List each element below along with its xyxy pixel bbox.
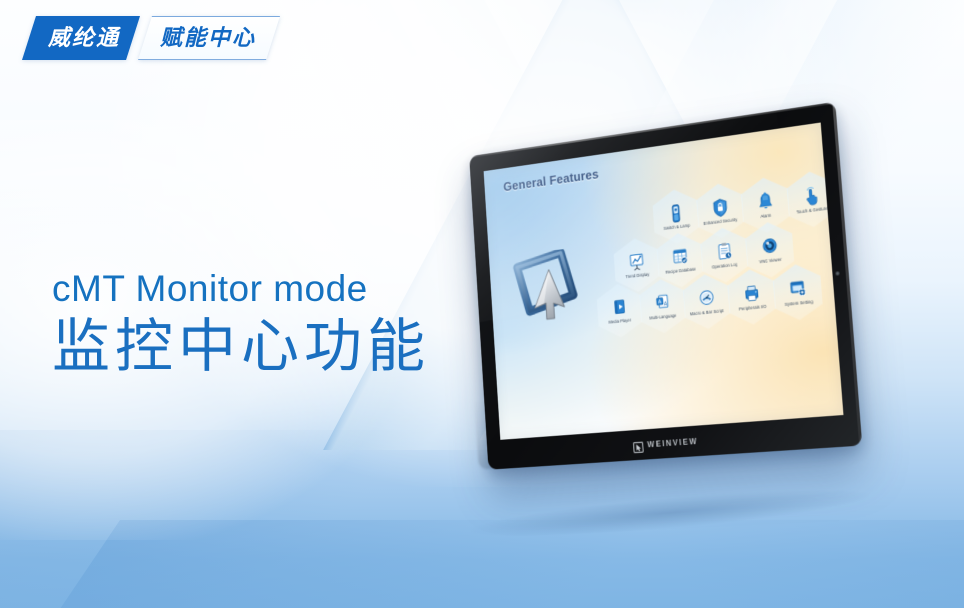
feature-tile-multi-language[interactable]: A A Multi-Language bbox=[638, 277, 686, 335]
trend-chart-icon bbox=[628, 251, 645, 273]
badge-brand-segment: 威纶通 bbox=[22, 16, 140, 60]
feature-row-1: Switch & Lamp bbox=[652, 169, 837, 246]
feature-label: Switch & Lamp bbox=[663, 223, 690, 231]
feature-tile-vnc-viewer[interactable]: VNC Viewer bbox=[744, 219, 795, 279]
feature-label: Recipe Database bbox=[665, 267, 696, 275]
slide-canvas: 威纶通 赋能中心 cMT Monitor mode 监控中心功能 WEINVIE… bbox=[0, 0, 964, 608]
hmi-panel-device: General Features bbox=[469, 102, 862, 470]
feature-label: Peripherals I/O bbox=[738, 304, 766, 312]
badge-subtitle-segment: 赋能中心 bbox=[138, 16, 280, 60]
gauge-meter-icon bbox=[698, 288, 716, 310]
headline-block: cMT Monitor mode 监控中心功能 bbox=[52, 268, 430, 381]
headline-english: cMT Monitor mode bbox=[52, 268, 430, 311]
feature-tile-media-player[interactable]: Media Player bbox=[596, 282, 643, 340]
feature-label: Touch & Gesture bbox=[796, 206, 828, 215]
headline-chinese: 监控中心功能 bbox=[52, 313, 430, 381]
band-bottom-right bbox=[560, 520, 964, 608]
feature-hex-grid: Switch & Lamp bbox=[608, 162, 837, 415]
shield-lock-icon bbox=[711, 197, 729, 219]
feature-tile-recipe-database[interactable]: Recipe Database bbox=[656, 231, 705, 290]
feature-label: Enhanced Security bbox=[704, 217, 738, 226]
feature-tile-peripherals-io[interactable]: Peripherals I/O bbox=[726, 267, 777, 327]
feature-label: Multi-Language bbox=[650, 313, 678, 320]
printer-io-icon bbox=[742, 283, 760, 305]
eye-viewer-icon bbox=[760, 236, 778, 258]
led-indicator-icon bbox=[835, 271, 839, 276]
svg-text:A: A bbox=[658, 299, 662, 306]
device-screen[interactable]: General Features bbox=[484, 123, 844, 440]
cursor-frame-3d-icon bbox=[511, 246, 591, 330]
language-doc-icon: A A bbox=[654, 292, 671, 314]
feature-tile-alarm[interactable]: Alarm bbox=[740, 175, 791, 236]
screen-page-title: General Features bbox=[503, 166, 599, 194]
feature-label: Trend Display bbox=[625, 272, 649, 279]
svg-text:A: A bbox=[663, 301, 667, 308]
feature-label: System Setting bbox=[784, 300, 813, 308]
feature-label: VNC Viewer bbox=[759, 257, 782, 264]
feature-label: Alarm bbox=[761, 213, 772, 219]
switch-lamp-icon bbox=[667, 202, 684, 224]
feature-tile-macro-script[interactable]: Macro & Bar Script bbox=[682, 272, 731, 331]
feature-tile-system-setting[interactable]: System Setting bbox=[772, 262, 824, 323]
feature-label: Macro & Bar Script bbox=[690, 309, 724, 317]
band-bottom-center bbox=[0, 520, 760, 608]
media-play-icon bbox=[611, 297, 628, 318]
badge-brand-label: 威纶通 bbox=[48, 27, 120, 49]
window-gear-icon bbox=[788, 278, 806, 300]
touch-hand-icon bbox=[802, 185, 821, 208]
band-bottom-left bbox=[0, 430, 460, 608]
badge-subtitle-label: 赋能中心 bbox=[160, 27, 256, 49]
header-badge: 威纶通 赋能中心 bbox=[22, 16, 280, 60]
feature-tile-enhanced-security[interactable]: Enhanced Security bbox=[695, 181, 745, 241]
clipboard-clock-icon bbox=[715, 241, 733, 263]
device-bezel: General Features bbox=[469, 102, 862, 470]
bell-icon bbox=[756, 191, 774, 213]
device-brand-label: WEINVIEW bbox=[647, 437, 698, 449]
device-stage: WEINVIEW General Features bbox=[455, 128, 925, 528]
bezel-right-highlight bbox=[832, 104, 862, 446]
feature-tile-touch-gesture[interactable]: Touch & Gesture bbox=[786, 168, 838, 229]
feature-label: Operation Log bbox=[712, 262, 738, 270]
cursor-frame-icon bbox=[633, 440, 644, 452]
feature-tile-operation-log[interactable]: Operation Log bbox=[699, 225, 749, 285]
feature-label: Media Player bbox=[609, 318, 632, 325]
database-table-icon bbox=[671, 246, 688, 268]
